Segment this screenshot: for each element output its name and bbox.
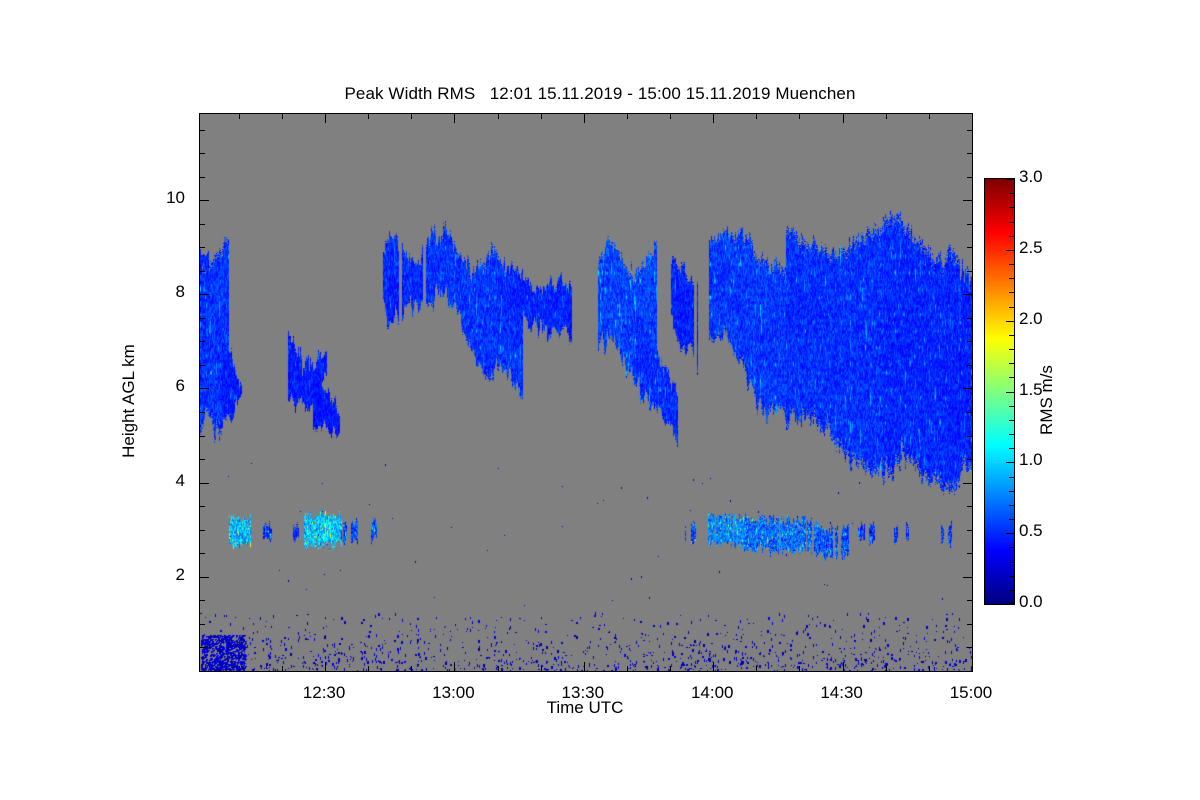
x-axis-minor-tick — [886, 114, 887, 119]
y-axis-minor-tick — [200, 271, 205, 272]
colorbar-major-tick — [1006, 603, 1014, 604]
x-axis-minor-tick — [929, 114, 930, 119]
y-axis-minor-tick — [200, 130, 205, 131]
colorbar-minor-tick — [1009, 448, 1014, 449]
colorbar-tick-label: 2.5 — [1019, 238, 1043, 258]
y-axis-major-tick — [200, 294, 209, 295]
y-axis-minor-tick — [967, 600, 972, 601]
colorbar-minor-tick — [1009, 349, 1014, 350]
y-axis-tick-label: 6 — [0, 376, 185, 396]
y-axis-minor-tick — [967, 412, 972, 413]
colorbar-minor-tick — [1009, 264, 1014, 265]
y-axis-minor-tick — [967, 365, 972, 366]
y-axis-minor-tick — [200, 647, 205, 648]
colorbar-minor-tick — [1009, 377, 1014, 378]
x-axis-major-tick — [325, 114, 326, 123]
x-axis-minor-tick — [756, 114, 757, 119]
y-axis-minor-tick — [967, 177, 972, 178]
x-axis-minor-tick — [929, 666, 930, 671]
x-axis-major-tick — [325, 662, 326, 671]
y-axis-minor-tick — [967, 647, 972, 648]
y-axis-minor-tick — [200, 459, 205, 460]
y-axis-minor-tick — [200, 224, 205, 225]
y-axis-major-tick — [963, 483, 972, 484]
x-axis-major-tick — [972, 662, 973, 671]
colorbar-minor-tick — [1009, 590, 1014, 591]
y-axis-minor-tick — [967, 130, 972, 131]
y-axis-minor-tick — [200, 436, 205, 437]
colorbar-tick-label: 0.5 — [1019, 521, 1043, 541]
page-title: Peak Width RMS 12:01 15.11.2019 - 15:00 … — [0, 84, 1200, 104]
y-axis-minor-tick — [200, 365, 205, 366]
y-axis-minor-tick — [200, 177, 205, 178]
colorbar-major-tick — [1006, 250, 1014, 251]
x-axis-minor-tick — [498, 666, 499, 671]
x-axis-minor-tick — [670, 666, 671, 671]
x-axis-major-tick — [843, 114, 844, 123]
x-axis-minor-tick — [368, 666, 369, 671]
y-axis-major-tick — [200, 200, 209, 201]
x-axis-minor-tick — [886, 666, 887, 671]
x-axis-minor-tick — [498, 114, 499, 119]
heatmap-data-canvas — [200, 114, 972, 671]
y-axis-major-tick — [963, 577, 972, 578]
y-axis-tick-label: 4 — [0, 471, 185, 491]
colorbar-minor-tick — [1009, 562, 1014, 563]
y-axis-tick-label: 2 — [0, 565, 185, 585]
colorbar-minor-tick — [1009, 207, 1014, 208]
colorbar-minor-tick — [1009, 576, 1014, 577]
y-axis-minor-tick — [967, 318, 972, 319]
colorbar-title: RMS m/s — [1037, 300, 1057, 500]
colorbar-tick-label: 0.0 — [1019, 592, 1043, 612]
x-axis-minor-tick — [411, 114, 412, 119]
y-axis-minor-tick — [200, 624, 205, 625]
y-axis-major-tick — [200, 483, 209, 484]
y-axis-minor-tick — [200, 247, 205, 248]
y-axis-major-tick — [200, 577, 209, 578]
colorbar-major-tick — [1006, 321, 1014, 322]
x-axis-minor-tick — [627, 666, 628, 671]
colorbar-minor-tick — [1009, 307, 1014, 308]
y-axis-minor-tick — [967, 553, 972, 554]
x-axis-minor-tick — [670, 114, 671, 119]
y-axis-minor-tick — [200, 318, 205, 319]
x-axis-major-tick — [713, 114, 714, 123]
y-axis-major-tick — [963, 294, 972, 295]
colorbar-minor-tick — [1009, 505, 1014, 506]
colorbar[interactable] — [984, 178, 1015, 605]
x-axis-major-tick — [454, 114, 455, 123]
colorbar-minor-tick — [1009, 491, 1014, 492]
y-axis-minor-tick — [967, 224, 972, 225]
plot-area[interactable] — [199, 113, 973, 672]
colorbar-minor-tick — [1009, 434, 1014, 435]
y-axis-tick-label: 8 — [0, 282, 185, 302]
y-axis-minor-tick — [200, 506, 205, 507]
colorbar-tick-label: 3.0 — [1019, 167, 1043, 187]
y-axis-minor-tick — [200, 600, 205, 601]
y-axis-minor-tick — [967, 153, 972, 154]
x-axis-major-tick — [454, 662, 455, 671]
y-axis-minor-tick — [200, 341, 205, 342]
x-axis-minor-tick — [411, 666, 412, 671]
figure-canvas: Peak Width RMS 12:01 15.11.2019 - 15:00 … — [0, 0, 1200, 800]
y-axis-major-tick — [200, 388, 209, 389]
y-axis-minor-tick — [967, 530, 972, 531]
y-axis-minor-tick — [967, 247, 972, 248]
colorbar-minor-tick — [1009, 420, 1014, 421]
colorbar-minor-tick — [1009, 193, 1014, 194]
x-axis-minor-tick — [239, 666, 240, 671]
y-axis-minor-tick — [200, 530, 205, 531]
y-axis-title: Height AGL km — [119, 261, 139, 541]
x-axis-minor-tick — [239, 114, 240, 119]
y-axis-major-tick — [963, 200, 972, 201]
y-axis-minor-tick — [200, 153, 205, 154]
x-axis-minor-tick — [282, 666, 283, 671]
x-axis-minor-tick — [756, 666, 757, 671]
x-axis-minor-tick — [541, 666, 542, 671]
x-axis-minor-tick — [541, 114, 542, 119]
x-axis-major-tick — [972, 114, 973, 123]
x-axis-minor-tick — [282, 114, 283, 119]
y-axis-minor-tick — [200, 553, 205, 554]
x-axis-minor-tick — [799, 114, 800, 119]
colorbar-minor-tick — [1009, 278, 1014, 279]
colorbar-minor-tick — [1009, 462, 1014, 463]
colorbar-minor-tick — [1009, 363, 1014, 364]
colorbar-minor-tick — [1009, 477, 1014, 478]
colorbar-minor-tick — [1009, 236, 1014, 237]
x-axis-major-tick — [584, 662, 585, 671]
y-axis-major-tick — [963, 388, 972, 389]
colorbar-major-tick — [1006, 392, 1014, 393]
x-axis-minor-tick — [368, 114, 369, 119]
y-axis-tick-label: 10 — [0, 188, 185, 208]
y-axis-minor-tick — [967, 436, 972, 437]
colorbar-minor-tick — [1009, 292, 1014, 293]
x-axis-major-tick — [713, 662, 714, 671]
y-axis-minor-tick — [967, 459, 972, 460]
colorbar-minor-tick — [1009, 222, 1014, 223]
colorbar-minor-tick — [1009, 547, 1014, 548]
x-axis-minor-tick — [799, 666, 800, 671]
colorbar-major-tick — [1006, 533, 1014, 534]
y-axis-minor-tick — [967, 271, 972, 272]
x-axis-minor-tick — [627, 114, 628, 119]
y-axis-minor-tick — [200, 412, 205, 413]
colorbar-major-tick — [1006, 179, 1014, 180]
y-axis-minor-tick — [967, 506, 972, 507]
y-axis-minor-tick — [967, 624, 972, 625]
colorbar-minor-tick — [1009, 335, 1014, 336]
x-axis-title: Time UTC — [199, 698, 971, 718]
colorbar-minor-tick — [1009, 406, 1014, 407]
y-axis-minor-tick — [967, 341, 972, 342]
colorbar-minor-tick — [1009, 519, 1014, 520]
x-axis-major-tick — [584, 114, 585, 123]
x-axis-major-tick — [843, 662, 844, 671]
